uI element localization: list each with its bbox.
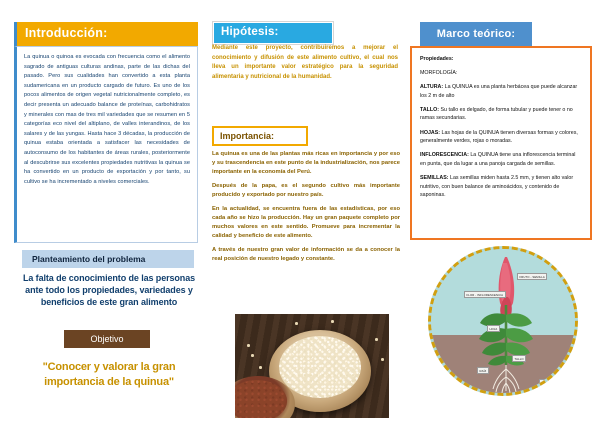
column-right: Marco teórico: Propiedades: MORFOLOGÍA: … [406, 0, 594, 424]
label-suelo: SUELO [539, 379, 554, 386]
planteamiento-problema-label: Planteamiento del problema [22, 250, 194, 264]
importancia-box: La quinua es una de las plantas más rica… [212, 150, 400, 306]
introduccion-box: La quinua o quinoa es evocada con frecue… [14, 46, 198, 243]
marco-term: HOJAS: [420, 130, 440, 136]
marco-term: ALTURA: [420, 84, 443, 90]
spilled-grain [251, 354, 254, 357]
hipotesis-body: Mediante este proyecto, contribuiremos a… [212, 44, 398, 82]
marco-entry-semillas: SEMILLAS: Las semillas miden hasta 2.5 m… [420, 174, 582, 200]
marco-section-label: MORFOLOGÍA: [420, 69, 582, 78]
marco-entry-inflorescencia: INFLORESCENCIA: La QUINUA tiene una infl… [420, 151, 582, 168]
marco-definition: Las hojas de la QUINUA tienen diversas f… [420, 130, 578, 145]
marco-definition: La QUINUA es una planta herbácea que pue… [420, 84, 577, 99]
marco-term: INFLORESCENCIA: [420, 152, 469, 158]
quinoa-bowls-photo [235, 314, 389, 418]
marco-teorico-box: Propiedades: MORFOLOGÍA: ALTURA: La QUIN… [410, 46, 592, 240]
white-quinoa-grains [279, 336, 361, 398]
label-tallo: TALLO [512, 355, 526, 362]
objetivo-quote: "Conocer y valorar la gran importancia d… [20, 360, 198, 390]
importancia-paragraph: A través de nuestro gran valor de inform… [212, 246, 400, 264]
spilled-grain [247, 344, 250, 347]
label-hoja: HOJA [487, 325, 500, 332]
label-fruto-semilla: FRUTO - SEMILLA [517, 273, 547, 280]
hipotesis-header: Hipótesis: [213, 22, 333, 44]
marco-subtitle: Propiedades: [420, 55, 582, 64]
problema-statement: La falta de conocimiento de las personas… [18, 272, 200, 308]
objetivo-label: Objetivo [64, 330, 150, 344]
marco-term: TALLO: [420, 107, 439, 113]
roots-shape [493, 365, 519, 394]
objetivo-bar: Objetivo [64, 330, 150, 348]
plant-illustration [431, 249, 578, 396]
spilled-grain [375, 338, 378, 341]
importancia-paragraph: Después de la papa, es el segundo cultiv… [212, 182, 400, 200]
spilled-grain [259, 366, 262, 369]
poster-page: Introducción: La quinua o quinoa es evoc… [0, 0, 600, 424]
label-raiz: RAÍZ [477, 367, 489, 374]
spilled-grain [381, 358, 384, 361]
hipotesis-box: Mediante este proyecto, contribuiremos a… [212, 44, 398, 122]
marco-entry-altura: ALTURA: La QUINUA es una planta herbácea… [420, 83, 582, 100]
marco-entry-tallo: TALLO: Su tallo es delgado, de forma tub… [420, 106, 582, 123]
column-left: Introducción: La quinua o quinoa es evoc… [8, 0, 204, 424]
marco-term: SEMILLAS: [420, 175, 449, 181]
spilled-grain [295, 322, 298, 325]
spilled-grain [331, 320, 334, 323]
quinoa-plant-anatomy-diagram: FLOR - INFLORESCENCIA FRUTO - SEMILLA HO… [428, 246, 578, 396]
marco-definition: Su tallo es delgado, de forma tubular y … [420, 107, 573, 122]
column-middle: Hipótesis: Mediante este proyecto, contr… [208, 0, 402, 424]
importancia-paragraph: En la actualidad, se encuentra fuera de … [212, 205, 400, 241]
importancia-header-box: Importancia: [212, 126, 308, 146]
introduccion-body: La quinua o quinoa es evocada con frecue… [24, 53, 190, 187]
importancia-paragraph: La quinua es una de las plantas más rica… [212, 150, 400, 177]
marco-teorico-header: Marco teórico: [420, 22, 532, 47]
label-flor-inflorescencia: FLOR - INFLORESCENCIA [464, 291, 506, 298]
planteamiento-problema-bar: Planteamiento del problema [22, 250, 194, 268]
importancia-header: Importancia: [214, 128, 306, 141]
marco-entry-hojas: HOJAS: Las hojas de la QUINUA tienen div… [420, 129, 582, 146]
introduccion-header: Introducción: [14, 22, 198, 46]
